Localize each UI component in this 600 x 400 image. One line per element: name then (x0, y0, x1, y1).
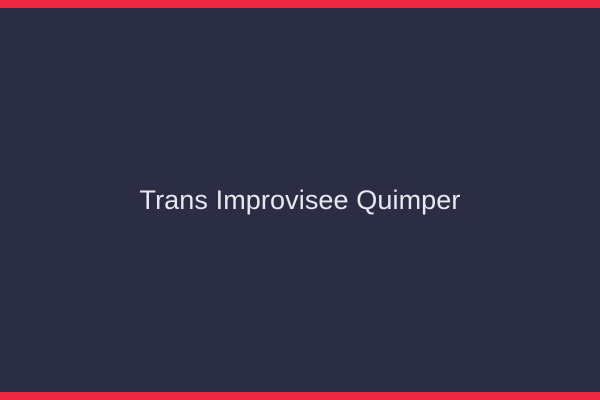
card-body: Trans Improvisee Quimper (0, 8, 600, 392)
card-title: Trans Improvisee Quimper (140, 184, 461, 216)
bottom-accent-bar (0, 392, 600, 400)
placeholder-card: Trans Improvisee Quimper (0, 0, 600, 400)
top-accent-bar (0, 0, 600, 8)
